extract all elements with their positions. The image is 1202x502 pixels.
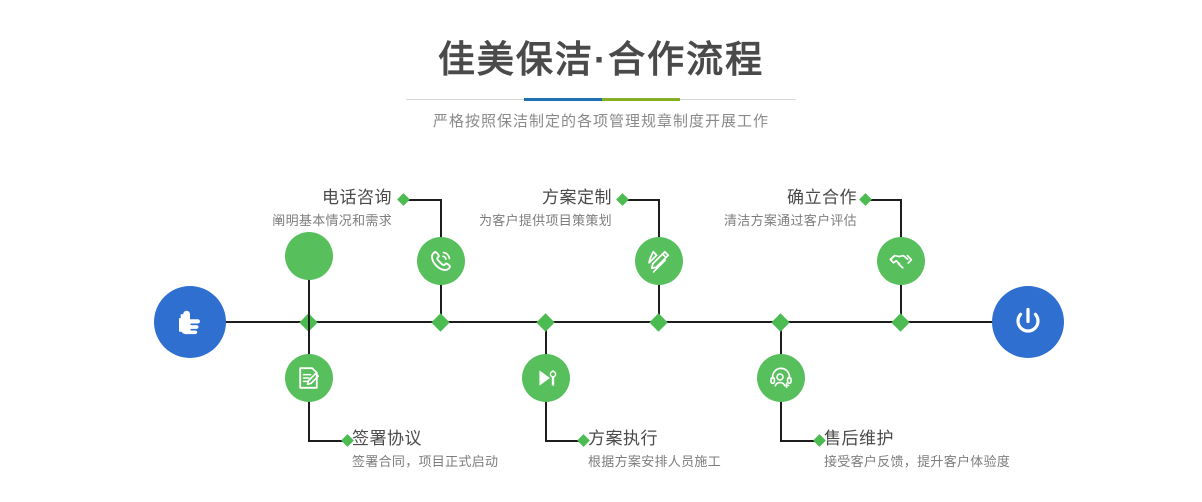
step-desc-top-3: 清洁方案通过客户评估	[605, 210, 857, 232]
step-title-top-3: 确立合作	[605, 186, 857, 210]
timeline-node-marker-5	[771, 313, 789, 331]
document-edit-icon	[295, 364, 323, 392]
timeline-node-marker-3	[536, 313, 554, 331]
step-icon-bubble-top-2	[635, 237, 683, 285]
flow-diagram-page: 佳美保洁·合作流程 严格按照保洁制定的各项管理规章制度开展工作	[0, 0, 1202, 502]
timeline-node-marker-4	[649, 313, 667, 331]
step-desc-bottom-3: 接受客户反馈，提升客户体验度	[824, 451, 1144, 473]
timeline-node-marker-6	[891, 313, 909, 331]
step-label-top-3: 确立合作 清洁方案通过客户评估	[605, 186, 857, 232]
timeline-node-marker-2	[431, 313, 449, 331]
phone-call-icon	[427, 247, 455, 275]
step-desc-top-1: 阐明基本情况和需求	[140, 210, 392, 232]
headset-support-icon	[767, 364, 795, 392]
process-timeline: 电话咨询 阐明基本情况和需求 方案定制 为客户提供项目策策划	[0, 0, 1202, 502]
step-title-top-1: 电话咨询	[140, 186, 392, 210]
pointing-hand-icon	[170, 302, 210, 342]
step-desc-top-2: 为客户提供项目策策划	[360, 210, 612, 232]
step-icon-bubble-top-3	[877, 237, 925, 285]
timeline-axis	[225, 321, 997, 323]
timeline-start-endpoint	[154, 286, 226, 358]
pencil-ruler-icon	[645, 247, 673, 275]
power-icon	[1008, 302, 1048, 342]
step-label-top-1: 电话咨询 阐明基本情况和需求	[140, 186, 392, 232]
step-label-bottom-3: 售后维护 接受客户反馈，提升客户体验度	[824, 427, 1144, 473]
step-label-top-2: 方案定制 为客户提供项目策策划	[360, 186, 612, 232]
step-icon-bubble-1	[285, 232, 333, 280]
step-icon-bubble-top-1	[417, 237, 465, 285]
step-title-top-2: 方案定制	[360, 186, 612, 210]
label-marker-top-3	[859, 193, 872, 206]
step-icon-bubble-bottom-3	[757, 354, 805, 402]
timeline-end-endpoint	[992, 286, 1064, 358]
step-icon-bubble-bottom-1	[285, 354, 333, 402]
play-execute-icon	[532, 364, 560, 392]
handshake-icon	[887, 247, 915, 275]
step-icon-bubble-bottom-2	[522, 354, 570, 402]
step-title-bottom-3: 售后维护	[824, 427, 1144, 451]
